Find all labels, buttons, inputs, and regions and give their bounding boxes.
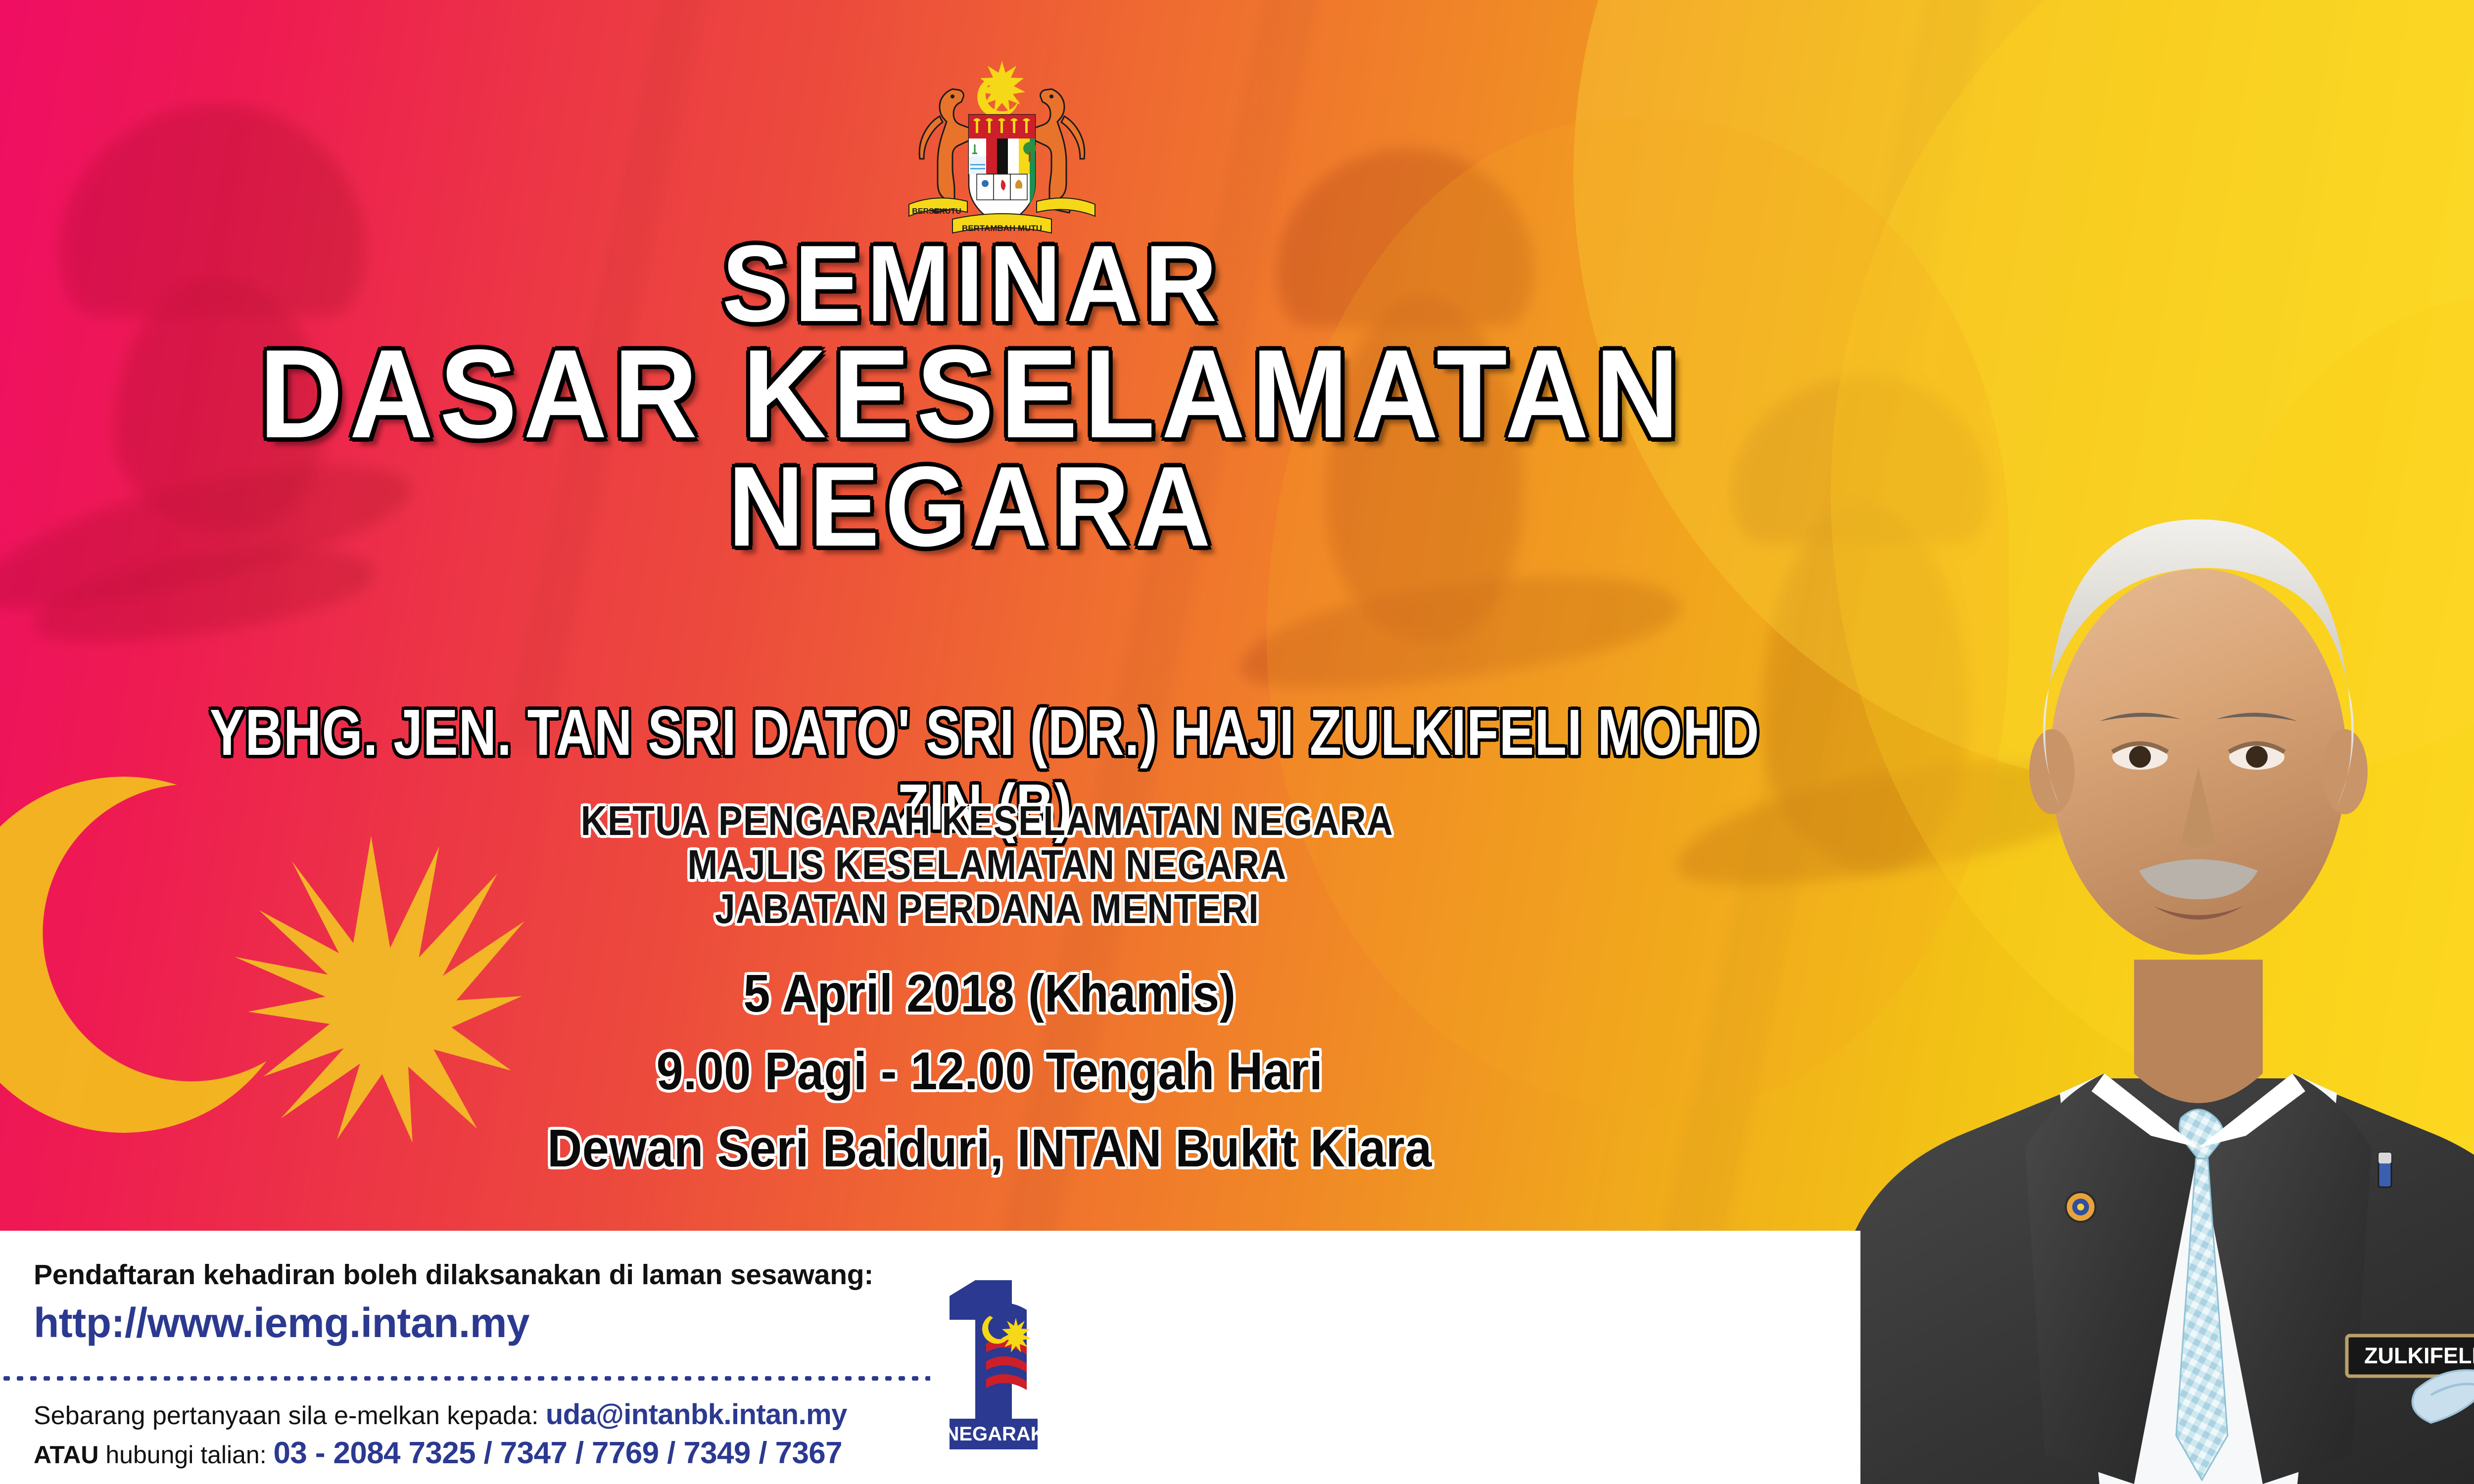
phone-label: hubungi talian: xyxy=(98,1441,273,1469)
tiger-icon-left xyxy=(919,89,971,213)
phone-numbers: 03 - 2084 7325 / 7347 / 7769 / 7349 / 73… xyxy=(274,1436,843,1470)
email-label: Sebarang pertanyaan sila e-melkan kepada… xyxy=(34,1401,546,1430)
title-line-1: SEMINAR xyxy=(78,232,1867,335)
email-link[interactable]: uda@intanbk.intan.my xyxy=(546,1398,847,1431)
negaraku-caption: NEGARAKU xyxy=(945,1423,1059,1445)
name-badge: ZULKIFELI xyxy=(2347,1336,2474,1376)
seminar-poster: BERSEKUTU BERTAMBAH MUTU xyxy=(0,0,2474,1484)
tiger-icon-right xyxy=(1033,89,1085,213)
event-details: 5 April 2018 (Khamis) 9.00 Pagi - 12.00 … xyxy=(0,955,1979,1187)
event-venue: Dewan Seri Baiduri, INTAN Bukit Kiara xyxy=(99,1110,1880,1187)
lapel-pin-icon xyxy=(2066,1192,2095,1222)
name-badge-text: ZULKIFELI xyxy=(2364,1343,2474,1368)
flag-ribbon-icon xyxy=(982,1303,1031,1390)
organisation-line-1: KETUA PENGARAH KESELAMATAN NEGARA xyxy=(128,799,1846,843)
title-line-2: DASAR KESELAMATAN xyxy=(78,335,1867,454)
organisation-line-2: MAJLIS KESELAMATAN NEGARA xyxy=(128,843,1846,887)
poster-title: SEMINAR DASAR KESELAMATAN NEGARA xyxy=(0,232,1945,560)
event-time: 9.00 Pagi - 12.00 Tengah Hari xyxy=(99,1032,1880,1110)
title-line-3: NEGARA xyxy=(78,453,1867,560)
crest-crescent-star-icon xyxy=(977,61,1025,118)
footer-divider xyxy=(0,1376,930,1381)
motto-top-text: BERSEKUTU xyxy=(912,207,961,216)
organisation-block: KETUA PENGARAH KESELAMATAN NEGARA MAJLIS… xyxy=(0,799,1974,931)
registration-label: Pendaftaran kehadiran boleh dilaksanakan… xyxy=(34,1258,873,1291)
phone-prefix: ATAU xyxy=(34,1441,98,1469)
event-date: 5 April 2018 (Khamis) xyxy=(99,955,1880,1032)
email-row: Sebarang pertanyaan sila e-melkan kepada… xyxy=(34,1398,847,1431)
phone-row: ATAU hubungi talian: 03 - 2084 7325 / 73… xyxy=(34,1436,842,1471)
speaker-portrait: ZULKIFELI xyxy=(1758,188,2474,1484)
negaraku-logo: NEGARAKU xyxy=(943,1266,1061,1454)
footer-panel: Pendaftaran kehadiran boleh dilaksanakan… xyxy=(0,1231,1860,1484)
organisation-line-3: JABATAN PERDANA MENTERI xyxy=(128,887,1846,931)
registration-url-link[interactable]: http://www.iemg.intan.my xyxy=(34,1299,529,1347)
jata-negara-emblem: BERSEKUTU BERTAMBAH MUTU xyxy=(878,47,1126,245)
service-pin-icon xyxy=(2379,1153,2391,1187)
shield-icon xyxy=(969,115,1036,226)
